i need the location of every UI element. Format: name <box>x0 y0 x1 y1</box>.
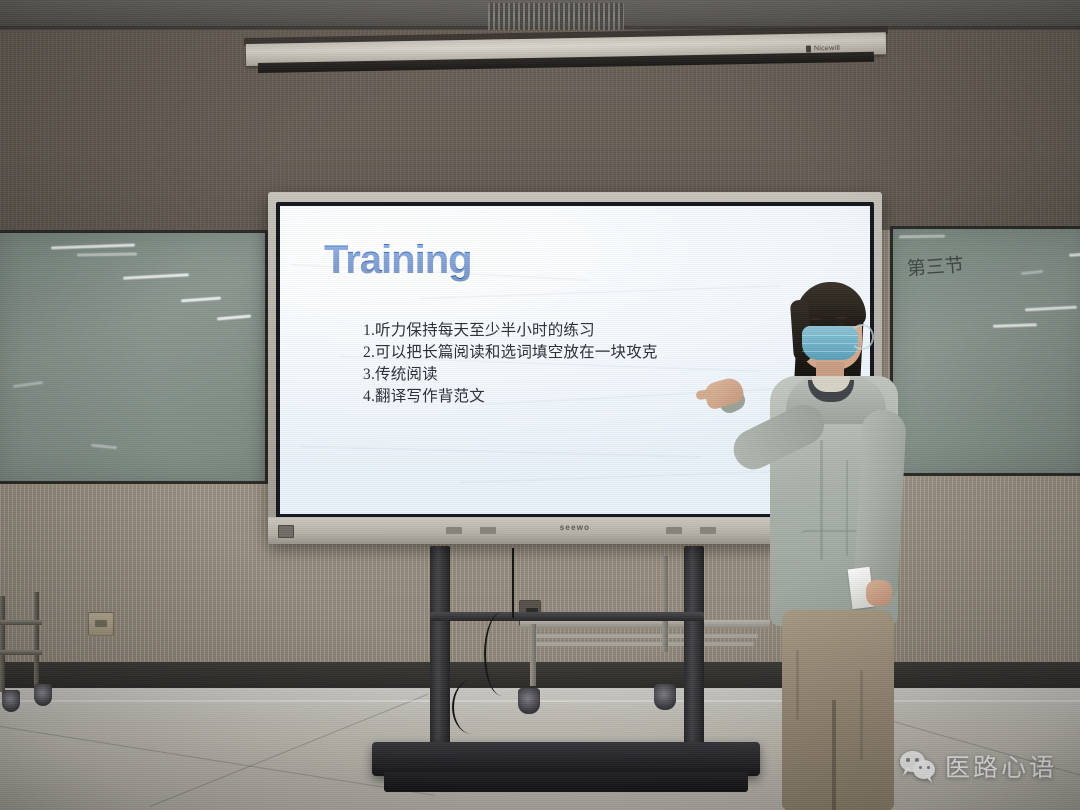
pant-leg-gap <box>832 700 836 810</box>
chalk-smudge <box>181 297 221 303</box>
power-cable <box>484 612 520 696</box>
brand-text: Nicewill <box>814 44 840 51</box>
display-button[interactable] <box>446 527 462 534</box>
trolley-post <box>34 592 39 692</box>
right-hand <box>866 580 892 606</box>
usb-port-icon[interactable] <box>278 525 294 538</box>
chalk-smudge <box>51 244 135 250</box>
chalk-smudge <box>993 323 1037 328</box>
chalk-smudge <box>77 252 137 256</box>
ceiling-vent-icon <box>488 12 624 30</box>
slide-bullet-list: 1.听力保持每天至少半小时的练习 2.可以把长篇阅读和选词填空放在一块攻克 3.… <box>363 320 658 408</box>
trolley-shelf <box>0 620 42 625</box>
chalk-smudge <box>123 273 189 279</box>
trolley-caster-wheel <box>34 684 52 706</box>
chalk-smudge <box>899 235 945 239</box>
chalk-smudge <box>1021 270 1043 275</box>
chalk-smudge <box>217 315 251 321</box>
trolley-caster-wheel <box>2 690 20 712</box>
trolley-shelf <box>0 650 42 655</box>
chalk-smudge <box>1025 306 1077 312</box>
display-button[interactable] <box>666 527 682 534</box>
brand-mark-icon <box>806 45 811 52</box>
floor-reflection <box>0 688 1080 728</box>
projection-screen-brand-label: Nicewill <box>806 41 868 54</box>
wechat-watermark: 医路心语 <box>900 748 1057 784</box>
chalk-smudge <box>1069 252 1080 257</box>
back-table-leg <box>530 624 536 686</box>
slide-bullet-2: 2.可以把长篇阅读和选词填空放在一块攻克 <box>363 342 658 364</box>
display-stand-crossbar <box>430 612 704 621</box>
pant-fold <box>860 670 863 760</box>
display-stand-leg-left <box>430 546 450 750</box>
green-chalkboard-right: 第三节 <box>890 226 1080 476</box>
display-stand-base-lower <box>384 772 748 792</box>
power-cable <box>452 680 492 734</box>
presenter <box>700 280 910 810</box>
chalkboard-handwriting: 第三节 <box>906 248 998 290</box>
baseboard <box>0 662 1080 688</box>
slide-bullet-1: 1.听力保持每天至少半小时的练习 <box>363 320 658 342</box>
mask-ear-strap <box>850 324 874 350</box>
power-cable <box>512 548 516 618</box>
wall-socket <box>88 612 114 636</box>
slide-bullet-4: 4.翻译写作背范文 <box>363 386 658 408</box>
slide-title: Training <box>324 238 472 283</box>
display-brand-label: seewo <box>560 523 590 532</box>
green-chalkboard-left <box>0 230 268 484</box>
wechat-bubble-small <box>913 760 935 779</box>
face-mask <box>802 326 858 360</box>
back-table-leg <box>662 556 668 652</box>
chalk-smudge <box>13 381 43 388</box>
chalk-smudge <box>91 444 117 450</box>
wechat-icon <box>900 751 936 781</box>
pant-fold <box>796 650 799 720</box>
caster-wheel <box>654 684 676 710</box>
slide-bullet-3: 3.传统阅读 <box>363 364 658 386</box>
caster-wheel <box>518 688 540 714</box>
floor-edge-line <box>0 700 1080 702</box>
trolley-post <box>0 596 5 692</box>
watermark-text: 医路心语 <box>945 748 1057 784</box>
display-button[interactable] <box>480 527 496 534</box>
classroom-photo: Nicewill 第三节 <box>0 0 1080 810</box>
